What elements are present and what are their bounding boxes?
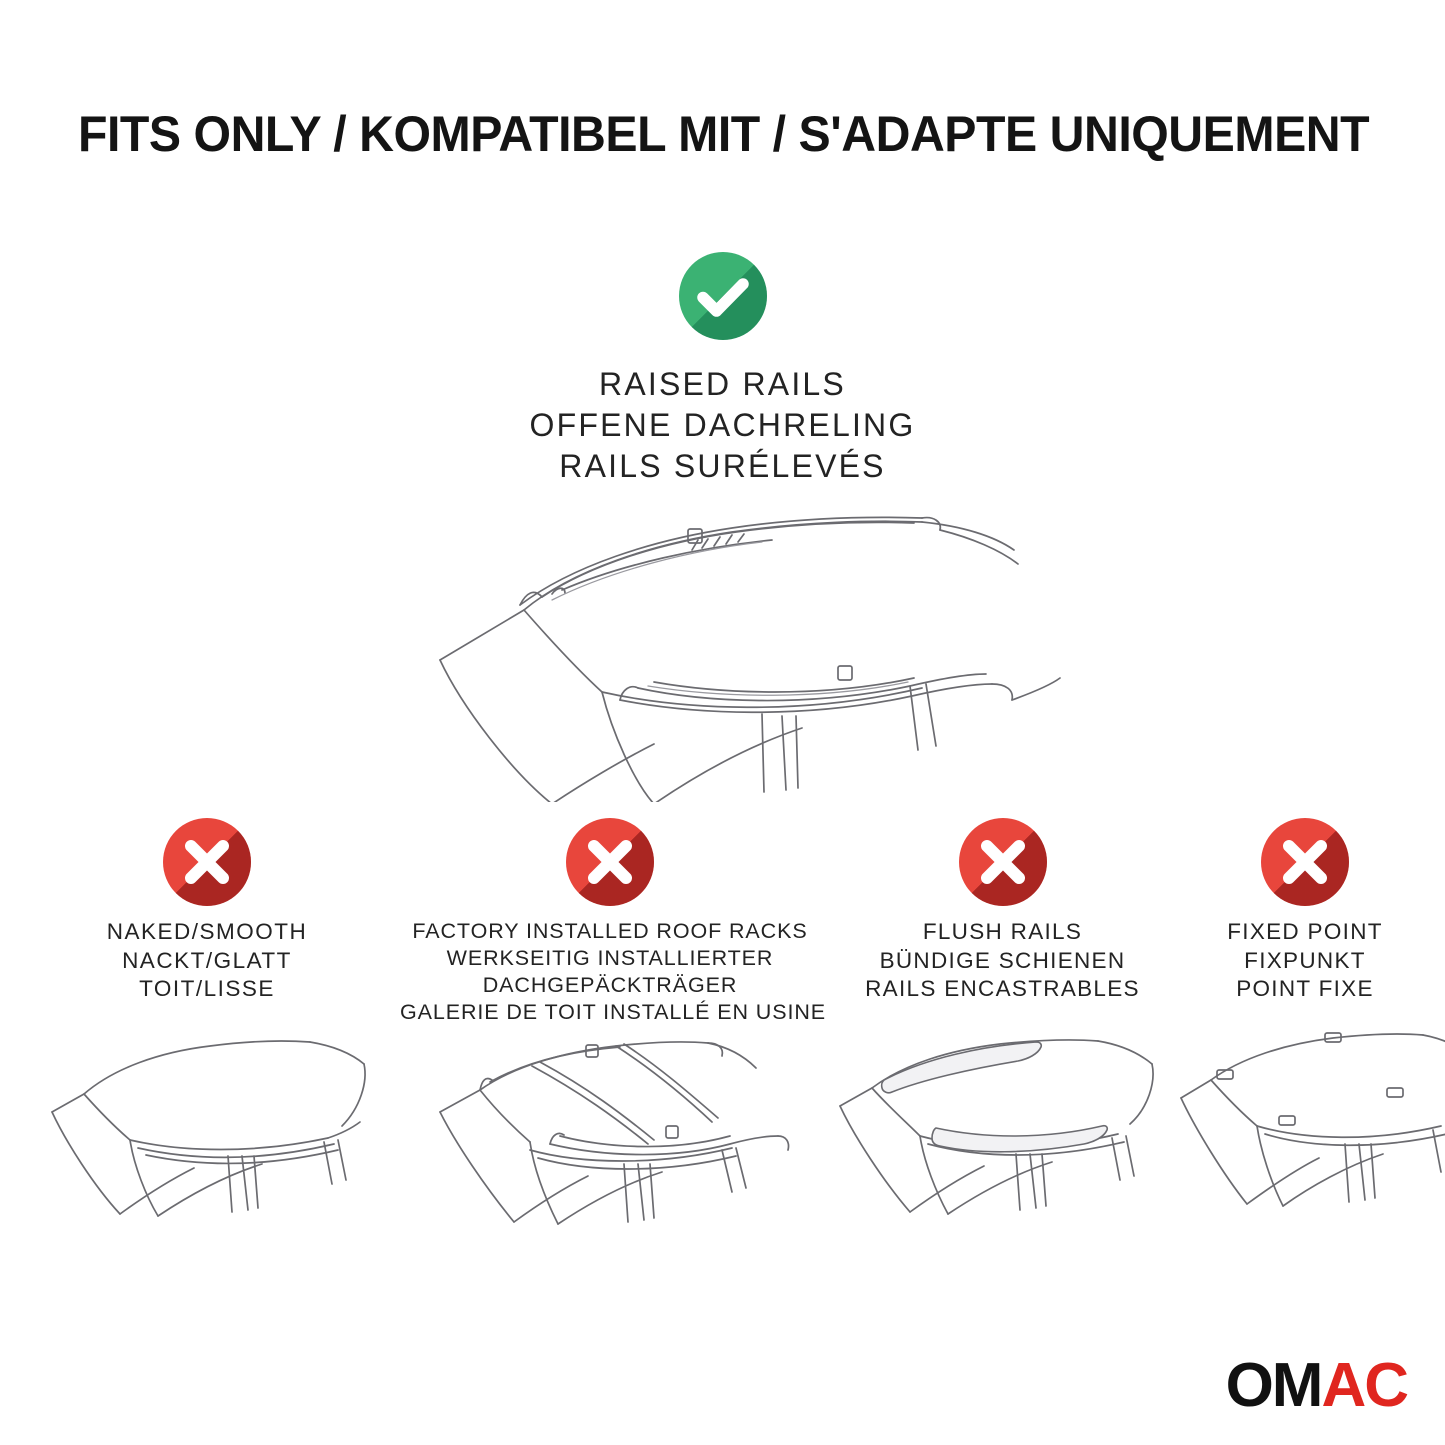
compatible-label-fr: RAILS SURÉLEVÉS <box>0 446 1445 487</box>
compatible-label-en: RAISED RAILS <box>0 364 1445 405</box>
badge-wrap <box>830 818 1175 918</box>
incompatible-column-fixed-point: FIXED POINT FIXPUNKT POINT FIXE <box>1175 818 1435 1246</box>
label-line-fr: POINT FIXE <box>1175 975 1435 1004</box>
car-roof-naked-smooth-illustration <box>42 1016 372 1246</box>
incompatible-labels: FLUSH RAILS BÜNDIGE SCHIENEN RAILS ENCAS… <box>830 918 1175 1004</box>
label-line-fr: TOIT/LISSE <box>42 975 372 1004</box>
label-line-fr: RAILS ENCASTRABLES <box>830 975 1175 1004</box>
page-title: FITS ONLY / KOMPATIBEL MIT / S'ADAPTE UN… <box>78 104 1328 164</box>
cross-circle-icon <box>163 818 251 906</box>
badge-wrap <box>400 818 820 918</box>
cross-circle-icon <box>959 818 1047 906</box>
badge-wrap <box>1175 818 1435 918</box>
incompatible-column-naked-smooth: NAKED/SMOOTH NACKT/GLATT TOIT/LISSE <box>42 818 372 1246</box>
label-line-de-2: DACHGEPÄCKTRÄGER <box>400 972 820 999</box>
incompatible-section: NAKED/SMOOTH NACKT/GLATT TOIT/LISSE <box>0 818 1445 1288</box>
label-line-fr: GALERIE DE TOIT INSTALLÉ EN USINE <box>400 999 820 1026</box>
compatible-label-de: OFFENE DACHRELING <box>0 405 1445 446</box>
label-line-en: NAKED/SMOOTH <box>42 918 372 947</box>
label-line-en: FIXED POINT <box>1175 918 1435 947</box>
compatible-labels: RAISED RAILS OFFENE DACHRELING RAILS SUR… <box>0 364 1445 487</box>
label-line-en: FLUSH RAILS <box>830 918 1175 947</box>
car-roof-factory-roof-racks-illustration <box>400 1032 820 1262</box>
label-line-en: FACTORY INSTALLED ROOF RACKS <box>400 918 820 945</box>
car-roof-fixed-point-illustration <box>1175 1016 1435 1246</box>
label-line-de: FIXPUNKT <box>1175 947 1435 976</box>
compatible-section: RAISED RAILS OFFENE DACHRELING RAILS SUR… <box>0 252 1445 487</box>
incompatible-labels: FIXED POINT FIXPUNKT POINT FIXE <box>1175 918 1435 1004</box>
incompatible-column-flush-rails: FLUSH RAILS BÜNDIGE SCHIENEN RAILS ENCAS… <box>830 818 1175 1246</box>
incompatible-labels: NAKED/SMOOTH NACKT/GLATT TOIT/LISSE <box>42 918 372 1004</box>
label-line-de: BÜNDIGE SCHIENEN <box>830 947 1175 976</box>
label-line-de: NACKT/GLATT <box>42 947 372 976</box>
car-roof-flush-rails-illustration <box>830 1016 1175 1246</box>
cross-circle-icon <box>566 818 654 906</box>
incompatible-column-factory-roof-racks: FACTORY INSTALLED ROOF RACKS WERKSEITIG … <box>400 818 820 1262</box>
badge-wrap <box>42 818 372 918</box>
logo-text-dark: OM <box>1226 1351 1322 1420</box>
cross-circle-icon <box>1261 818 1349 906</box>
label-line-de-1: WERKSEITIG INSTALLIERTER <box>400 945 820 972</box>
check-circle-icon <box>679 252 767 340</box>
incompatible-labels: FACTORY INSTALLED ROOF RACKS WERKSEITIG … <box>400 918 820 1026</box>
omac-logo: OMAC <box>1226 1355 1407 1417</box>
car-roof-raised-rails-illustration <box>402 492 1062 802</box>
logo-text-red: AC <box>1321 1351 1407 1420</box>
